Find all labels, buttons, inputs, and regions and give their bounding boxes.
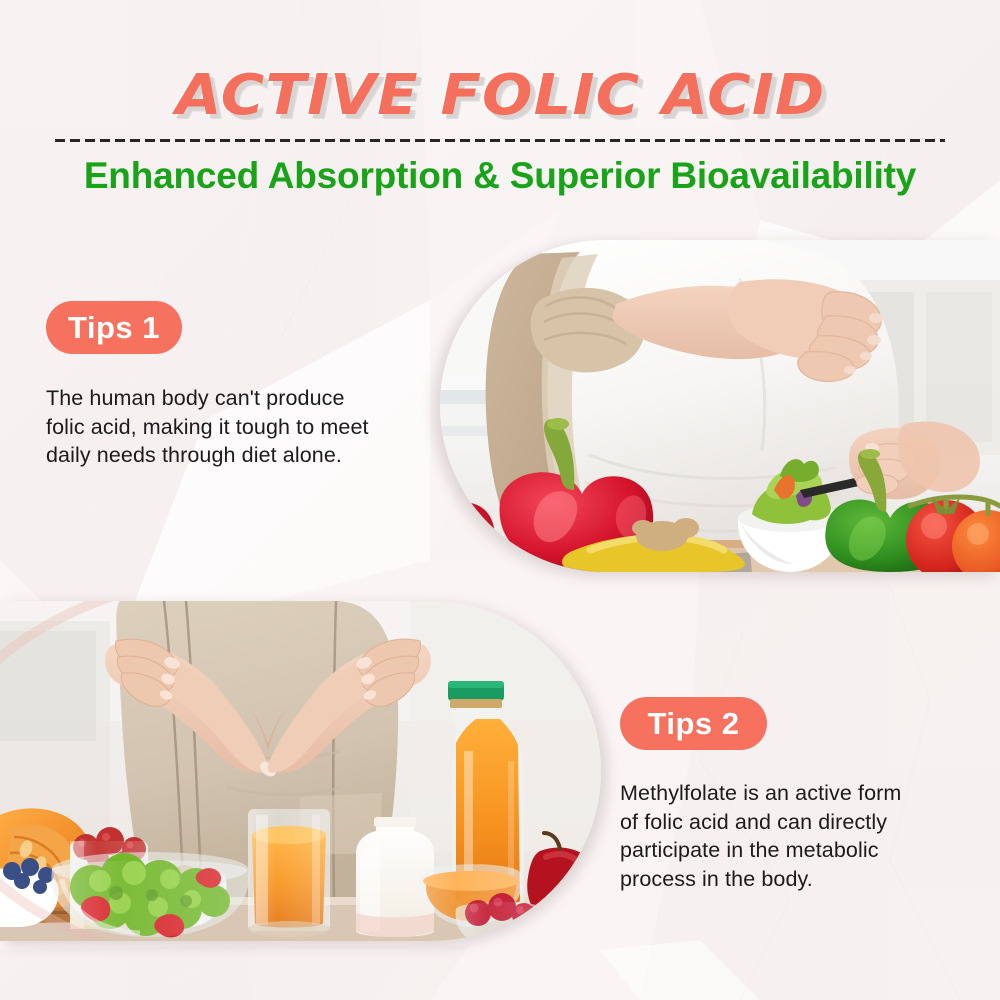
photo-pregnant-woman-eating-salad: [440, 240, 1000, 572]
photo-heart-hands-healthy-breakfast: [0, 601, 601, 941]
tips-1-body: The human body can't produce folic acid,…: [46, 384, 446, 470]
dashed-divider: [55, 139, 945, 142]
tips-2-badge: Tips 2: [620, 697, 767, 750]
tips-1-badge: Tips 1: [46, 301, 182, 354]
page-title: ACTIVE FOLIC ACID: [175, 68, 825, 124]
tips-2-body: Methylfolate is an active form of folic …: [620, 779, 980, 893]
page-subtitle: Enhanced Absorption & Superior Bioavaila…: [0, 155, 1000, 197]
header: ACTIVE FOLIC ACID Enhanced Absorption & …: [0, 0, 1000, 215]
page-title-wrapper: ACTIVE FOLIC ACID: [0, 68, 1000, 124]
